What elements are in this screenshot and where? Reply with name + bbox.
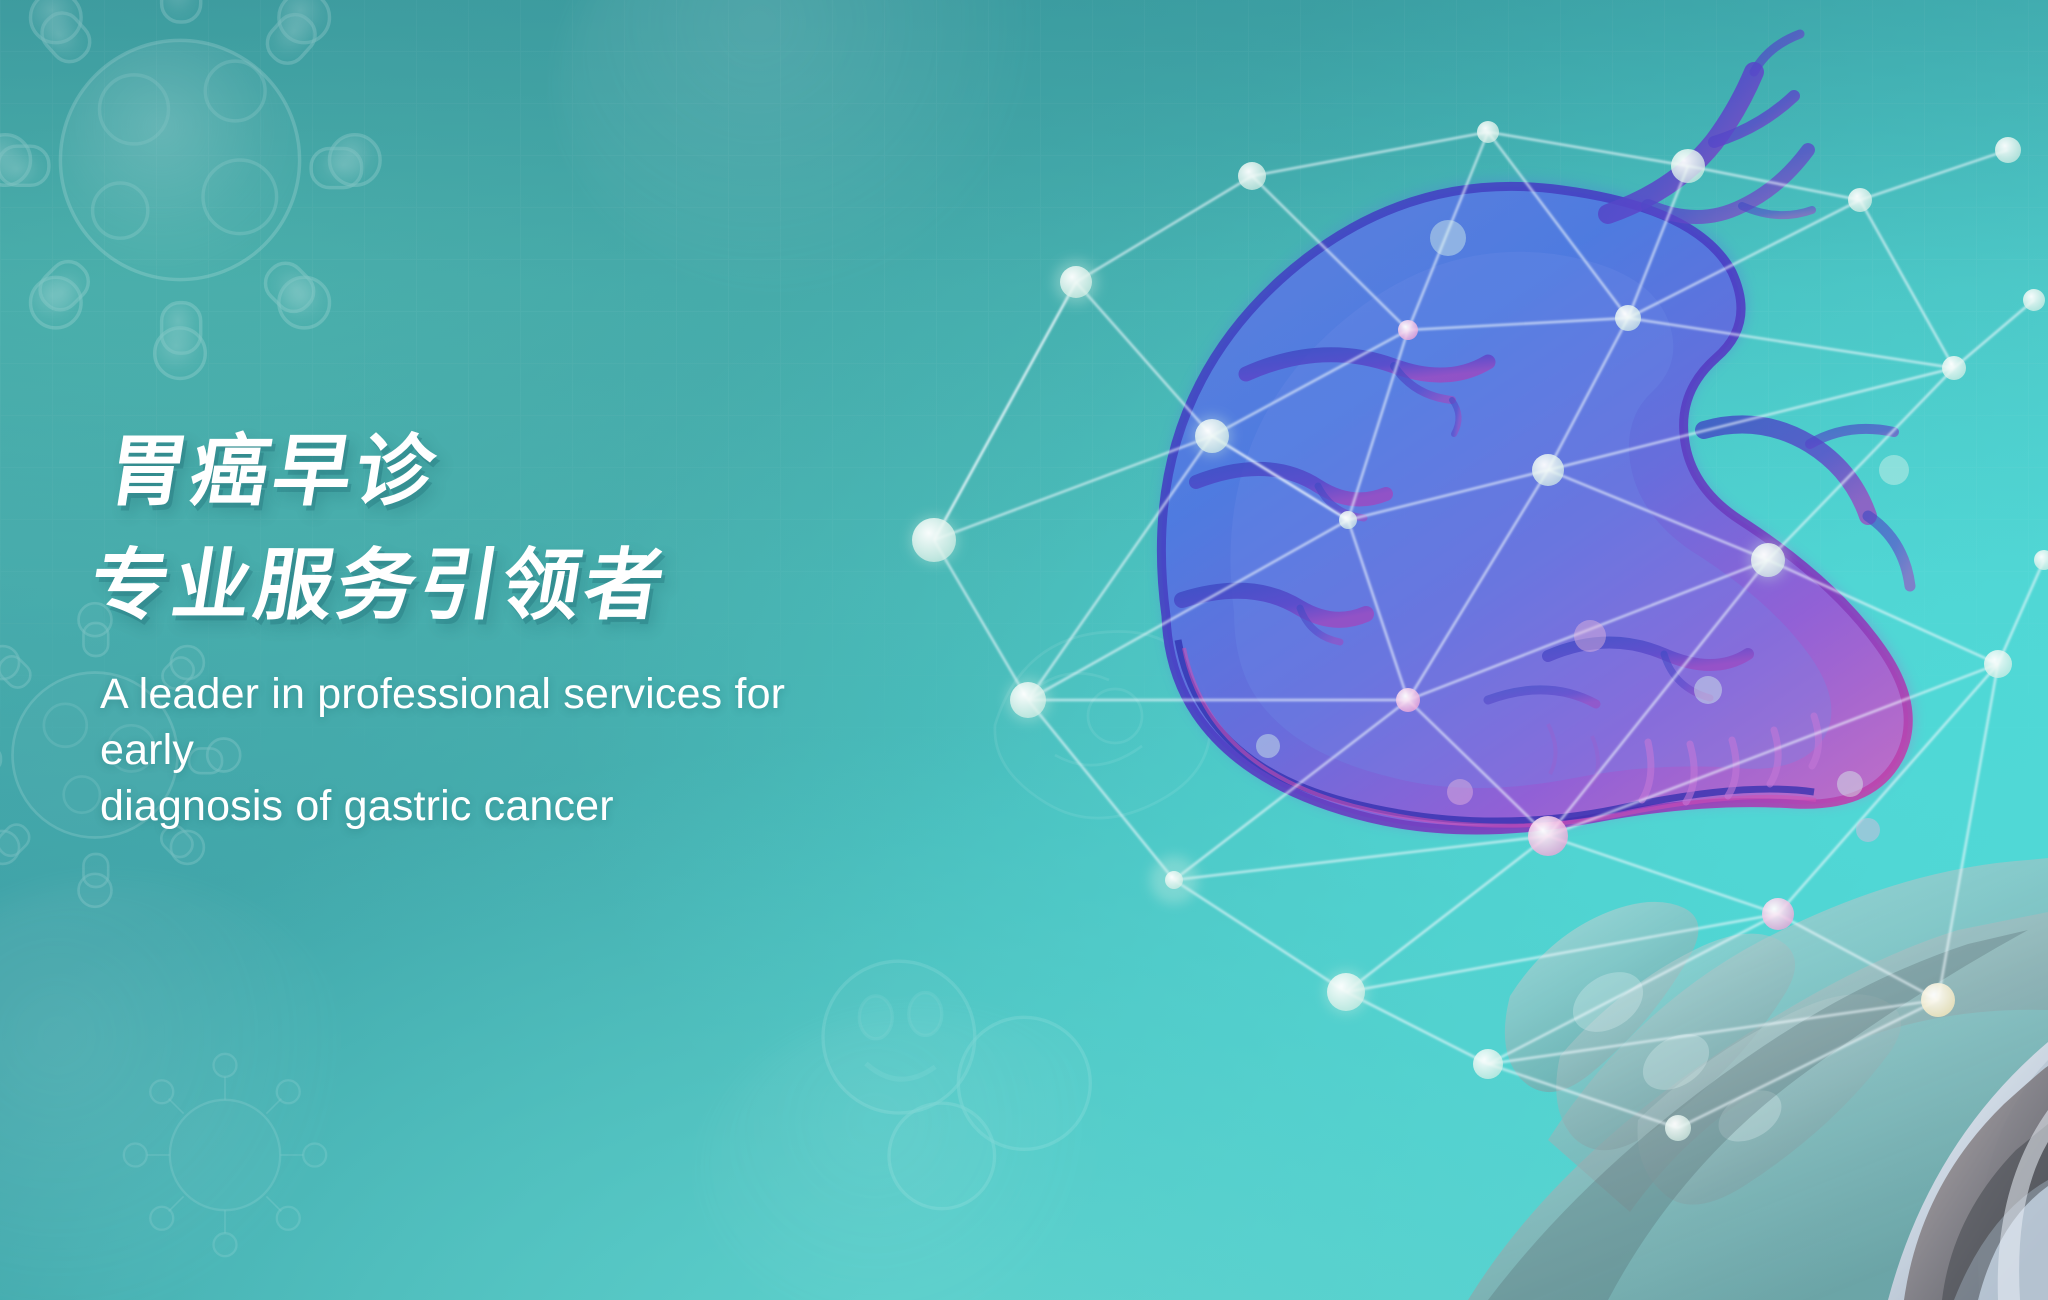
headline-line-1: 胃癌早诊: [100, 415, 1118, 529]
subtitle-line-2: diagnosis of gastric cancer: [100, 779, 880, 835]
page-subtitle: A leader in professional services for ea…: [100, 667, 880, 835]
banner-root: 胃癌早诊 专业服务引领者 A leader in professional se…: [0, 0, 2048, 1300]
subtitle-line-1: A leader in professional services for ea…: [100, 667, 880, 779]
page-title: 胃癌早诊 专业服务引领者: [82, 415, 1118, 643]
virus-particle-icon: [0, 0, 420, 390]
headline-line-2: 专业服务引领者: [82, 529, 1100, 643]
headline-block: 胃癌早诊 专业服务引领者 A leader in professional se…: [100, 415, 1100, 834]
light-haze: [0, 880, 380, 1300]
stomach-body: [1159, 34, 1914, 832]
